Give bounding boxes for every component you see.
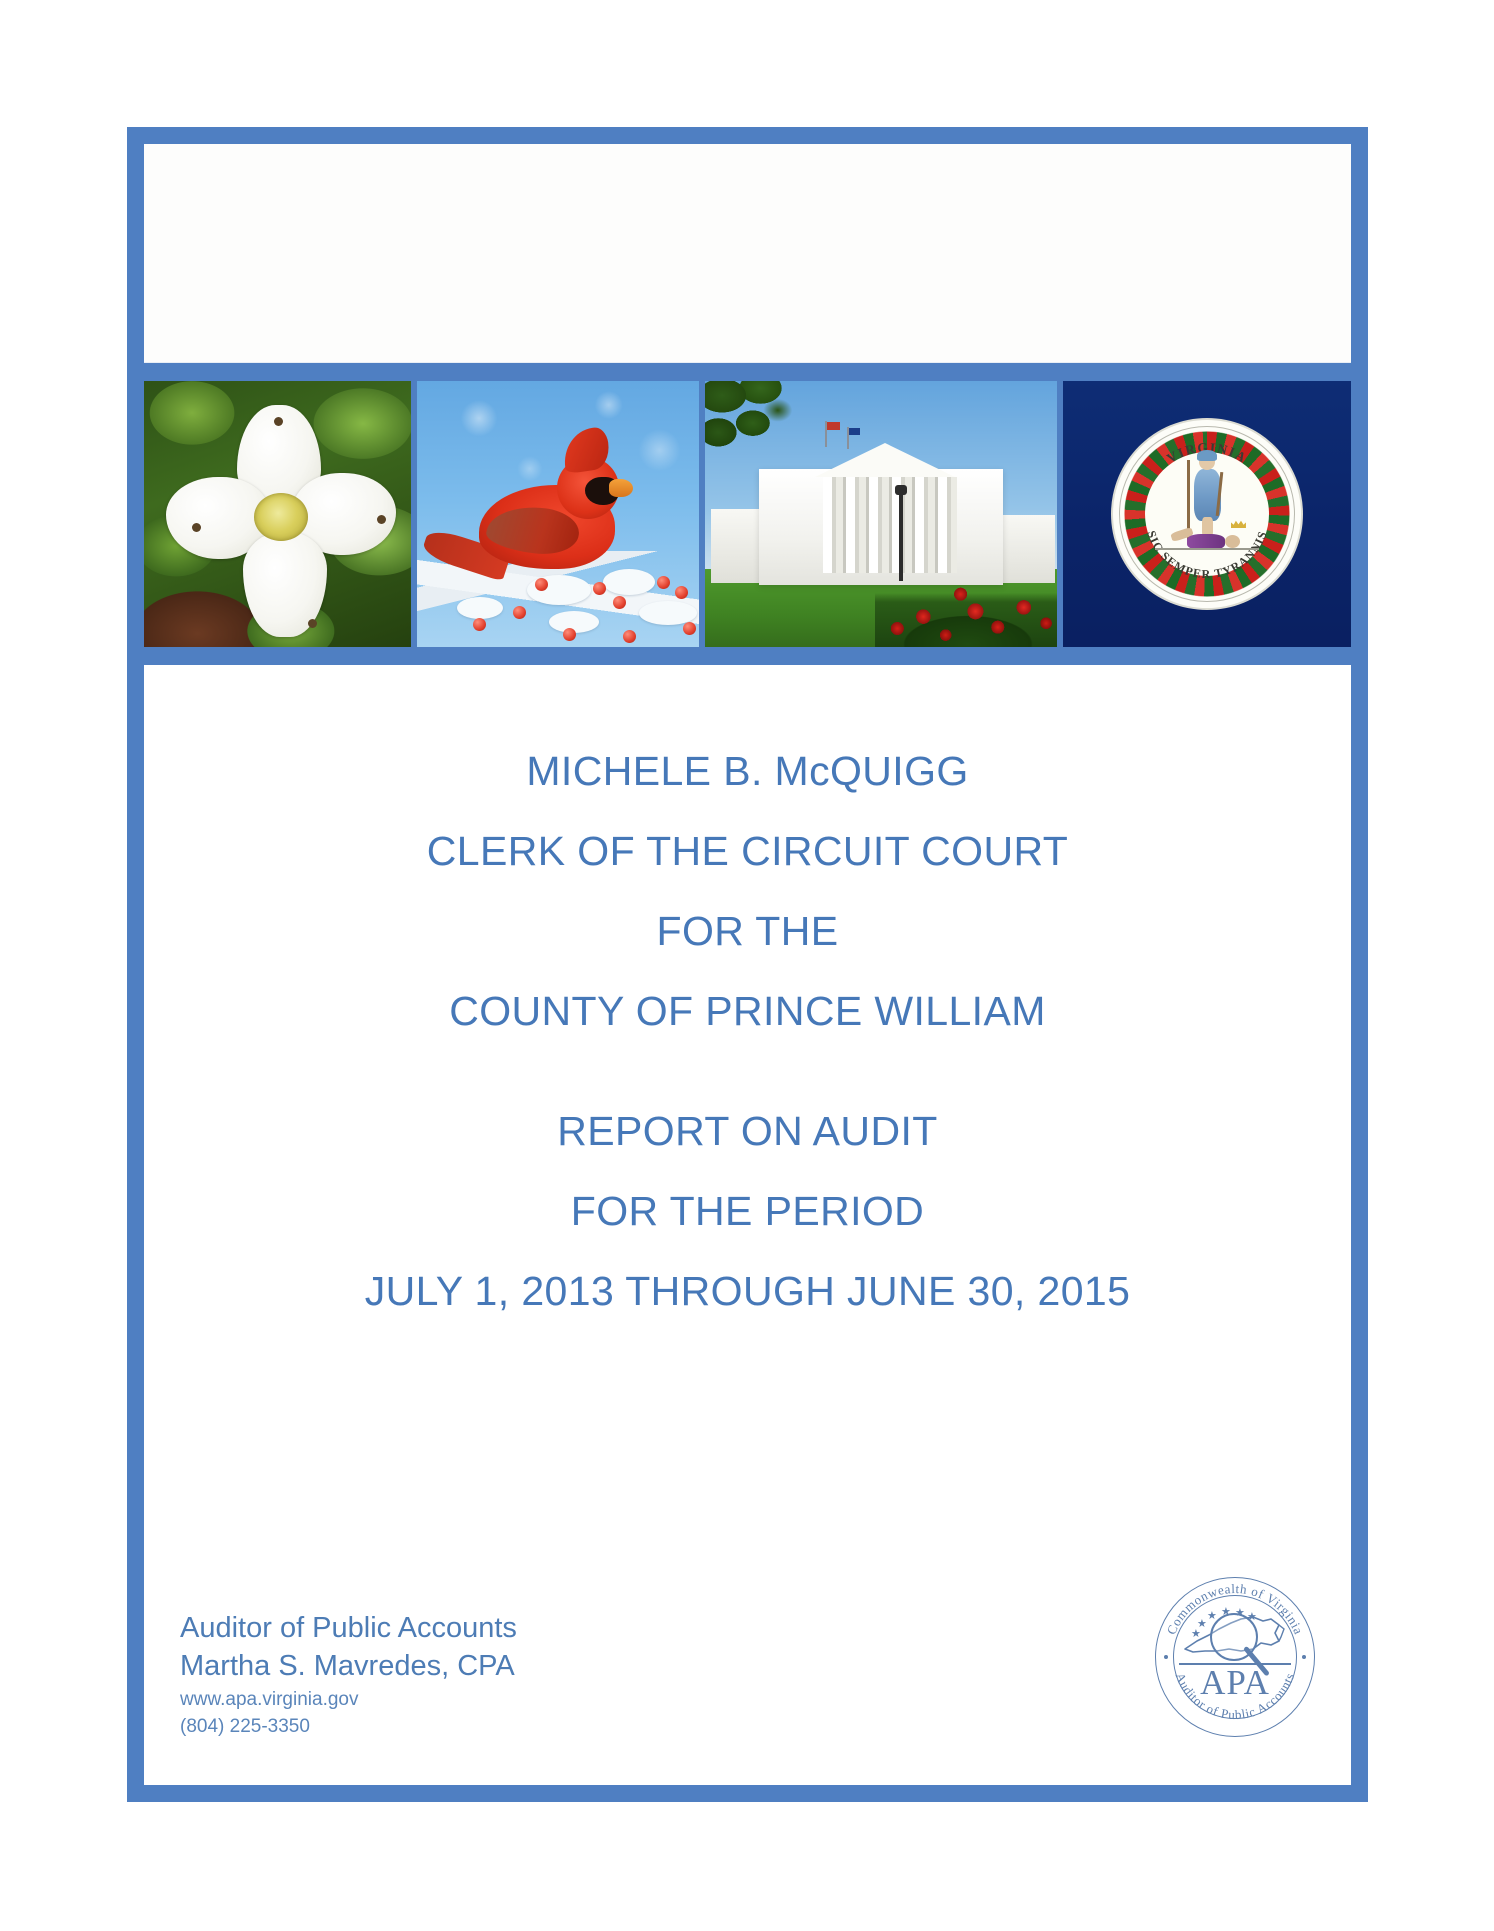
virtus-figure (1186, 454, 1228, 540)
petal-notch-top (274, 417, 283, 426)
cover-footer: Auditor of Public Accounts Martha S. Mav… (180, 1577, 1315, 1741)
auditor-name: Martha S. Mavredes, CPA (180, 1647, 517, 1686)
us-flag-icon (827, 422, 840, 430)
title-spacer (144, 1071, 1351, 1111)
svg-text:Commonwealth of Virginia: Commonwealth of Virginia (1164, 1581, 1307, 1637)
report-type: REPORT ON AUDIT (144, 1111, 1351, 1152)
document-page: VIRGINIA SIC SEMPER TYRANNIS (0, 0, 1494, 1931)
apa-arc-text: Commonwealth of Virginia Auditor of Publ… (1155, 1577, 1315, 1737)
officer-name: MICHELE B. McQUIGG (144, 751, 1351, 792)
lamp-head (895, 485, 907, 495)
virginia-flag-icon (849, 428, 860, 435)
foreground-tree (705, 381, 797, 471)
snow-lump (603, 569, 655, 595)
apa-top-arc-text: Commonwealth of Virginia (1164, 1581, 1307, 1637)
tyrant-head (1225, 535, 1240, 548)
strip-bottom-accent-band (144, 647, 1351, 665)
capitol-columns (823, 477, 957, 573)
virginia-state-seal: VIRGINIA SIC SEMPER TYRANNIS (1113, 420, 1301, 608)
period-dates: JULY 1, 2013 THROUGH JUNE 30, 2015 (144, 1271, 1351, 1312)
capitol-pediment (815, 443, 955, 477)
cover-content: MICHELE B. McQUIGG CLERK OF THE CIRCUIT … (144, 665, 1351, 1785)
header-accent-band (144, 363, 1351, 381)
petal-notch-bottom (308, 619, 317, 628)
petal-notch-right (377, 515, 386, 524)
agency-website[interactable]: www.apa.virginia.gov (180, 1686, 517, 1714)
image-strip: VIRGINIA SIC SEMPER TYRANNIS (144, 381, 1351, 647)
agency-contact-block: Auditor of Public Accounts Martha S. Mav… (180, 1609, 517, 1741)
jurisdiction-name: COUNTY OF PRINCE WILLIAM (144, 991, 1351, 1032)
seal-ground-line (1155, 548, 1259, 550)
cardinal-beak (609, 479, 633, 497)
snow-lump (457, 597, 503, 619)
virginia-state-flag-photo: VIRGINIA SIC SEMPER TYRANNIS (1063, 381, 1351, 647)
dogwood-flower-photo (144, 381, 411, 647)
virginia-state-capitol-photo (705, 381, 1056, 647)
period-label: FOR THE PERIOD (144, 1191, 1351, 1232)
apa-seal-logo: ★ ★ ★ ★ ★ ★ (1155, 1577, 1315, 1737)
red-rose-bushes (875, 581, 1056, 647)
petal-notch-left (192, 523, 201, 532)
header-blank-panel (144, 144, 1351, 363)
agency-phone: (804) 225-3350 (180, 1713, 517, 1741)
cardinal-bird-photo (417, 381, 699, 647)
title-block: MICHELE B. McQUIGG CLERK OF THE CIRCUIT … (144, 751, 1351, 1351)
for-the-line: FOR THE (144, 911, 1351, 952)
apa-acronym: APA (1155, 1665, 1315, 1700)
agency-name: Auditor of Public Accounts (180, 1609, 517, 1648)
virtus-helmet (1197, 450, 1217, 461)
cover-frame: VIRGINIA SIC SEMPER TYRANNIS (127, 127, 1368, 1802)
office-title: CLERK OF THE CIRCUIT COURT (144, 831, 1351, 872)
flower-stamen (254, 493, 308, 541)
lamp-post (899, 489, 903, 581)
